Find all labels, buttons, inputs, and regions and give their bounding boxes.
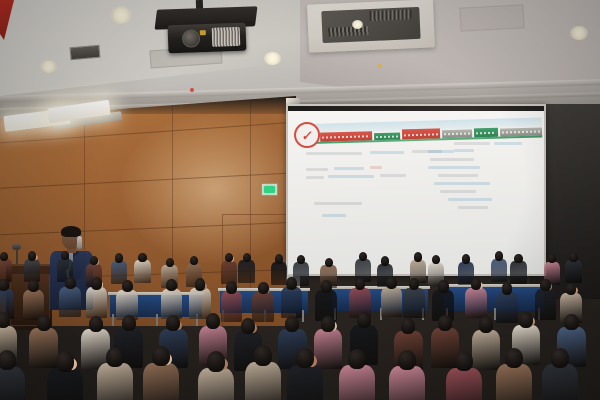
audience-head: [398, 350, 416, 370]
audience-head: [166, 279, 177, 291]
ceiling-vent-small: [69, 45, 100, 61]
audience-head: [207, 351, 225, 371]
audience-head: [519, 312, 533, 328]
audience-head: [438, 315, 452, 331]
slide-text-line: [428, 150, 454, 153]
audience-head: [28, 280, 39, 292]
audience-head: [0, 252, 8, 261]
audience-head: [455, 351, 473, 371]
ceiling-indicator-light: [378, 64, 382, 68]
audience-head: [106, 347, 124, 367]
audience-torso: [465, 288, 487, 318]
table-leg: [302, 310, 304, 322]
slide-text-line: [430, 158, 474, 161]
slide-text-line: [306, 152, 362, 155]
slide-text-line: [454, 142, 490, 145]
audience-head: [115, 253, 123, 262]
audience-head: [355, 278, 366, 290]
audience-torso: [339, 365, 375, 400]
audience-head: [548, 254, 556, 263]
audience-torso: [287, 365, 323, 400]
audience-torso: [221, 261, 238, 284]
audience-head: [357, 312, 371, 328]
slide-text-line: [334, 167, 364, 170]
audience-head: [275, 254, 283, 263]
audience-head: [241, 318, 255, 334]
audience-head: [414, 252, 422, 261]
audience-head: [401, 318, 415, 334]
audience-torso: [198, 368, 234, 400]
audience-head: [471, 278, 482, 290]
ac-louver: [328, 26, 368, 37]
slide-text-line: [458, 206, 488, 209]
audience-head: [56, 351, 74, 371]
audience-head: [438, 280, 449, 292]
audience-head: [90, 256, 98, 265]
audience-head: [564, 314, 578, 330]
audience-torso: [496, 292, 518, 322]
audience-torso: [535, 289, 557, 319]
audience-torso: [97, 363, 133, 400]
audience-head: [225, 253, 233, 262]
audience-torso: [86, 287, 108, 317]
audience-head: [190, 256, 198, 265]
audience-head: [195, 278, 206, 290]
audience-torso: [281, 287, 303, 317]
lecture-hall-photo: ✓: [0, 0, 600, 400]
downlight: [352, 20, 363, 29]
audience-head: [551, 348, 569, 368]
audience-head: [152, 346, 170, 366]
audience-head: [381, 256, 389, 265]
audience-torso: [238, 260, 255, 283]
downlight: [40, 60, 57, 73]
audience-head: [243, 253, 251, 262]
audience-head: [91, 277, 102, 289]
audience-torso: [245, 362, 281, 400]
audience-head: [226, 281, 237, 293]
audience-head: [89, 316, 103, 332]
audience-torso: [252, 292, 274, 322]
slide-text-line: [428, 166, 480, 169]
audience-torso: [446, 368, 482, 400]
audience-head: [166, 315, 180, 331]
audience-head: [206, 313, 220, 329]
audience-head: [285, 316, 299, 332]
table-leg: [156, 314, 158, 326]
downlight: [110, 6, 132, 24]
audience-head: [479, 316, 493, 332]
audience-head: [0, 279, 9, 291]
audience-head: [502, 282, 513, 294]
audience-torso: [491, 259, 508, 282]
ceiling-cassette-ac: [307, 0, 435, 53]
audience-torso: [496, 364, 532, 400]
audience-head: [138, 253, 146, 262]
table-leg: [112, 314, 114, 326]
audience-head: [321, 316, 335, 332]
audience-head: [409, 278, 420, 290]
audience-torso: [47, 368, 83, 400]
audience-torso: [389, 366, 425, 400]
audience-head: [348, 349, 366, 369]
projector-vent-grill: [212, 27, 241, 47]
ceiling-access-panel: [459, 4, 524, 31]
ac-louver: [369, 9, 411, 21]
audience-torso: [314, 329, 343, 369]
audience-head: [432, 255, 440, 264]
downlight: [264, 52, 281, 65]
slide-text-line: [434, 182, 490, 185]
audience-head: [505, 348, 523, 368]
ceiling-indicator-light: [190, 88, 194, 92]
audience-head: [495, 251, 503, 260]
audience-head: [566, 283, 577, 295]
ceiling-projector: [168, 23, 247, 54]
audience-head: [122, 315, 136, 331]
audience-torso: [221, 291, 243, 321]
slide-text-line: [494, 142, 522, 145]
audience-torso: [472, 330, 501, 370]
downlight: [570, 26, 588, 40]
audience-torso: [510, 261, 527, 284]
slide-text-line: [314, 202, 362, 205]
audience-torso: [24, 259, 41, 282]
slide-text-line: [438, 174, 478, 177]
slide-text-line: [380, 174, 406, 177]
screen-top-bar: [288, 106, 544, 111]
audience-head: [321, 280, 332, 292]
slide-text-line: [306, 176, 324, 179]
emergency-exit-sign: [261, 183, 278, 196]
audience-torso: [143, 363, 179, 400]
audience-head: [166, 258, 174, 267]
audience-head: [0, 350, 16, 370]
school-emblem-logo: ✓: [294, 122, 321, 149]
slide-text-line: [328, 175, 374, 178]
ceiling: [0, 0, 600, 118]
projector-indicator: [200, 30, 206, 35]
audience-head: [37, 315, 51, 331]
audience-torso: [0, 367, 25, 400]
audience-head: [569, 253, 577, 262]
audience-head: [28, 251, 36, 260]
slide-text-line: [322, 214, 346, 217]
audience-head: [122, 280, 133, 292]
audience-torso: [134, 260, 151, 283]
slide-text-line: [306, 168, 328, 171]
slide-text-line: [440, 190, 476, 193]
audience-torso: [59, 287, 81, 317]
audience-torso: [565, 260, 582, 283]
audience-torso: [29, 328, 58, 368]
audience-head: [462, 254, 470, 263]
seated-student-audience: [0, 236, 600, 400]
audience-head: [258, 282, 269, 294]
audience-torso: [271, 262, 288, 285]
audience-head: [514, 254, 522, 263]
audience-head: [296, 348, 314, 368]
audience-head: [254, 345, 272, 365]
slide-text-line: [448, 198, 492, 201]
audience-head: [0, 312, 10, 328]
audience-head: [61, 251, 69, 260]
audience-torso: [403, 288, 425, 318]
audience-torso: [542, 364, 578, 400]
audience-head: [325, 258, 333, 267]
slide-text-line: [370, 151, 404, 154]
projector-lens-icon: [182, 29, 201, 48]
logo-mark: ✓: [301, 128, 314, 141]
audience-torso: [381, 287, 403, 317]
audience-head: [297, 255, 305, 264]
audience-head: [540, 279, 551, 291]
audience-head: [386, 277, 397, 289]
audience-head: [286, 277, 297, 289]
audience-head: [359, 252, 367, 261]
audience-head: [65, 277, 76, 289]
running-person-exit-icon: [264, 186, 275, 193]
slide-text-line: [370, 166, 382, 169]
slide-text-line: [454, 149, 474, 152]
